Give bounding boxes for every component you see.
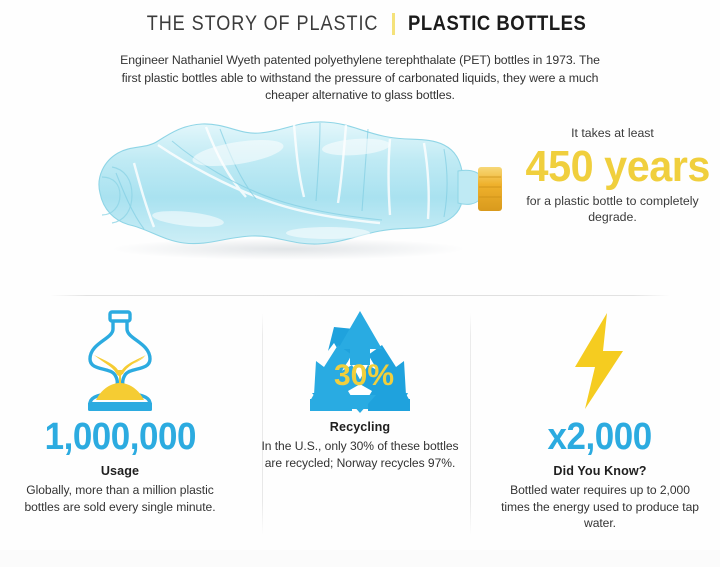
degrade-time-callout: It takes at least 450 years for a plasti… bbox=[520, 125, 705, 226]
usage-description: Globally, more than a million plastic bo… bbox=[20, 482, 220, 515]
recycling-symbol-icon: 30% bbox=[304, 309, 416, 413]
lightning-bolt-icon bbox=[561, 309, 639, 413]
did-you-know-description: Bottled water requires up to 2,000 times… bbox=[500, 482, 700, 532]
stat-panel-recycling: 30% Recycling In the U.S., only 30% of t… bbox=[240, 305, 480, 545]
usage-icon-slot bbox=[82, 305, 158, 413]
page-header: THE STORY OF PLASTIC PLASTIC BOTTLES bbox=[0, 0, 720, 36]
did-you-know-heading: Did You Know? bbox=[553, 464, 646, 478]
title-separator-bar bbox=[392, 13, 395, 35]
crushed-plastic-bottle-icon bbox=[88, 115, 508, 275]
recycling-rate-label: 30% bbox=[334, 359, 394, 392]
recycling-heading: Recycling bbox=[330, 420, 390, 434]
recycling-icon-slot: 30% bbox=[304, 305, 416, 413]
stats-panel-group: 1,000,000 Usage Globally, more than a mi… bbox=[0, 305, 720, 545]
stat-panel-usage: 1,000,000 Usage Globally, more than a mi… bbox=[0, 305, 240, 545]
recycling-description: In the U.S., only 30% of these bottles a… bbox=[260, 438, 460, 471]
usage-value: 1,000,000 bbox=[44, 417, 195, 457]
callout-big-value: 450 years bbox=[526, 143, 700, 191]
section-divider bbox=[50, 295, 670, 296]
page-title-topic: PLASTIC BOTTLES bbox=[408, 12, 586, 36]
intro-paragraph: Engineer Nathaniel Wyeth patented polyet… bbox=[110, 52, 610, 105]
usage-heading: Usage bbox=[101, 464, 139, 478]
energy-icon-slot bbox=[561, 305, 639, 413]
bottle-hourglass-icon bbox=[82, 309, 158, 413]
crushed-plastic-bottle-image bbox=[88, 115, 508, 275]
callout-trailing-text: for a plastic bottle to completely degra… bbox=[520, 193, 705, 226]
stat-panel-did-you-know: x2,000 Did You Know? Bottled water requi… bbox=[480, 305, 720, 545]
page-title-series: THE STORY OF PLASTIC bbox=[147, 12, 379, 36]
infographic-page: THE STORY OF PLASTIC PLASTIC BOTTLES Eng… bbox=[0, 0, 720, 567]
energy-multiplier-value: x2,000 bbox=[548, 417, 652, 457]
callout-lead-text: It takes at least bbox=[520, 125, 705, 141]
hero-section: It takes at least 450 years for a plasti… bbox=[0, 113, 720, 281]
footer-band bbox=[0, 550, 720, 567]
